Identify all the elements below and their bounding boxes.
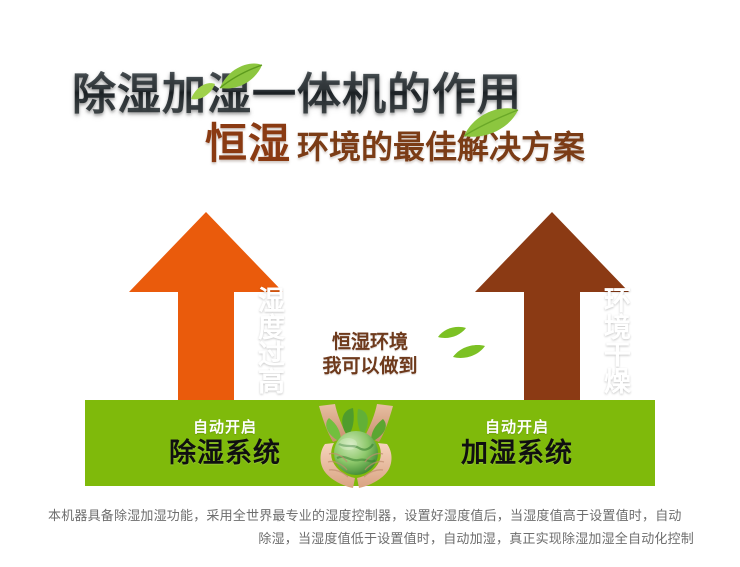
center-slogan-line-2: 我可以做到 bbox=[295, 354, 445, 378]
headline-block: 除湿加湿一体机的作用 恒湿 环境的最佳解决方案 bbox=[0, 58, 740, 188]
band-left-main-label: 除湿系统 bbox=[169, 439, 281, 469]
center-slogan-line-1: 恒湿环境 bbox=[295, 330, 445, 354]
arrow-right-label: 环境干燥 bbox=[474, 260, 629, 420]
center-slogan: 恒湿环境 我可以做到 bbox=[295, 330, 445, 378]
footer-description: 本机器具备除湿加湿功能，采用全世界最专业的湿度控制器，设置好湿度值后，当湿度值高… bbox=[48, 505, 694, 551]
hands-holding-globe-image bbox=[303, 398, 409, 492]
band-right-main-label: 加湿系统 bbox=[461, 439, 573, 469]
arrow-humidity-too-high: 湿度过高 bbox=[128, 212, 283, 422]
poster-canvas: 除湿加湿一体机的作用 恒湿 环境的最佳解决方案 湿度过高 环境干燥 bbox=[0, 0, 740, 567]
subtitle-rest: 环境的最佳解决方案 bbox=[297, 123, 585, 171]
band-left-sub-label: 自动开启 bbox=[193, 418, 257, 436]
subtitle-accent: 恒湿 bbox=[205, 120, 291, 168]
subtitle-block: 恒湿 环境的最佳解决方案 bbox=[205, 120, 585, 171]
arrow-environment-dry: 环境干燥 bbox=[474, 212, 629, 422]
footer-line-2: 除湿，当湿度值低于设置值时，自动加湿，真正实现除湿加湿全自动化控制 bbox=[48, 528, 694, 551]
band-right-sub-label: 自动开启 bbox=[485, 418, 549, 436]
band-column-humidify: 自动开启 加湿系统 bbox=[397, 400, 637, 486]
footer-line-1: 本机器具备除湿加湿功能，采用全世界最专业的湿度控制器，设置好湿度值后，当湿度值高… bbox=[48, 509, 682, 524]
page-title: 除湿加湿一体机的作用 bbox=[72, 70, 522, 120]
arrow-left-label: 湿度过高 bbox=[128, 260, 283, 420]
